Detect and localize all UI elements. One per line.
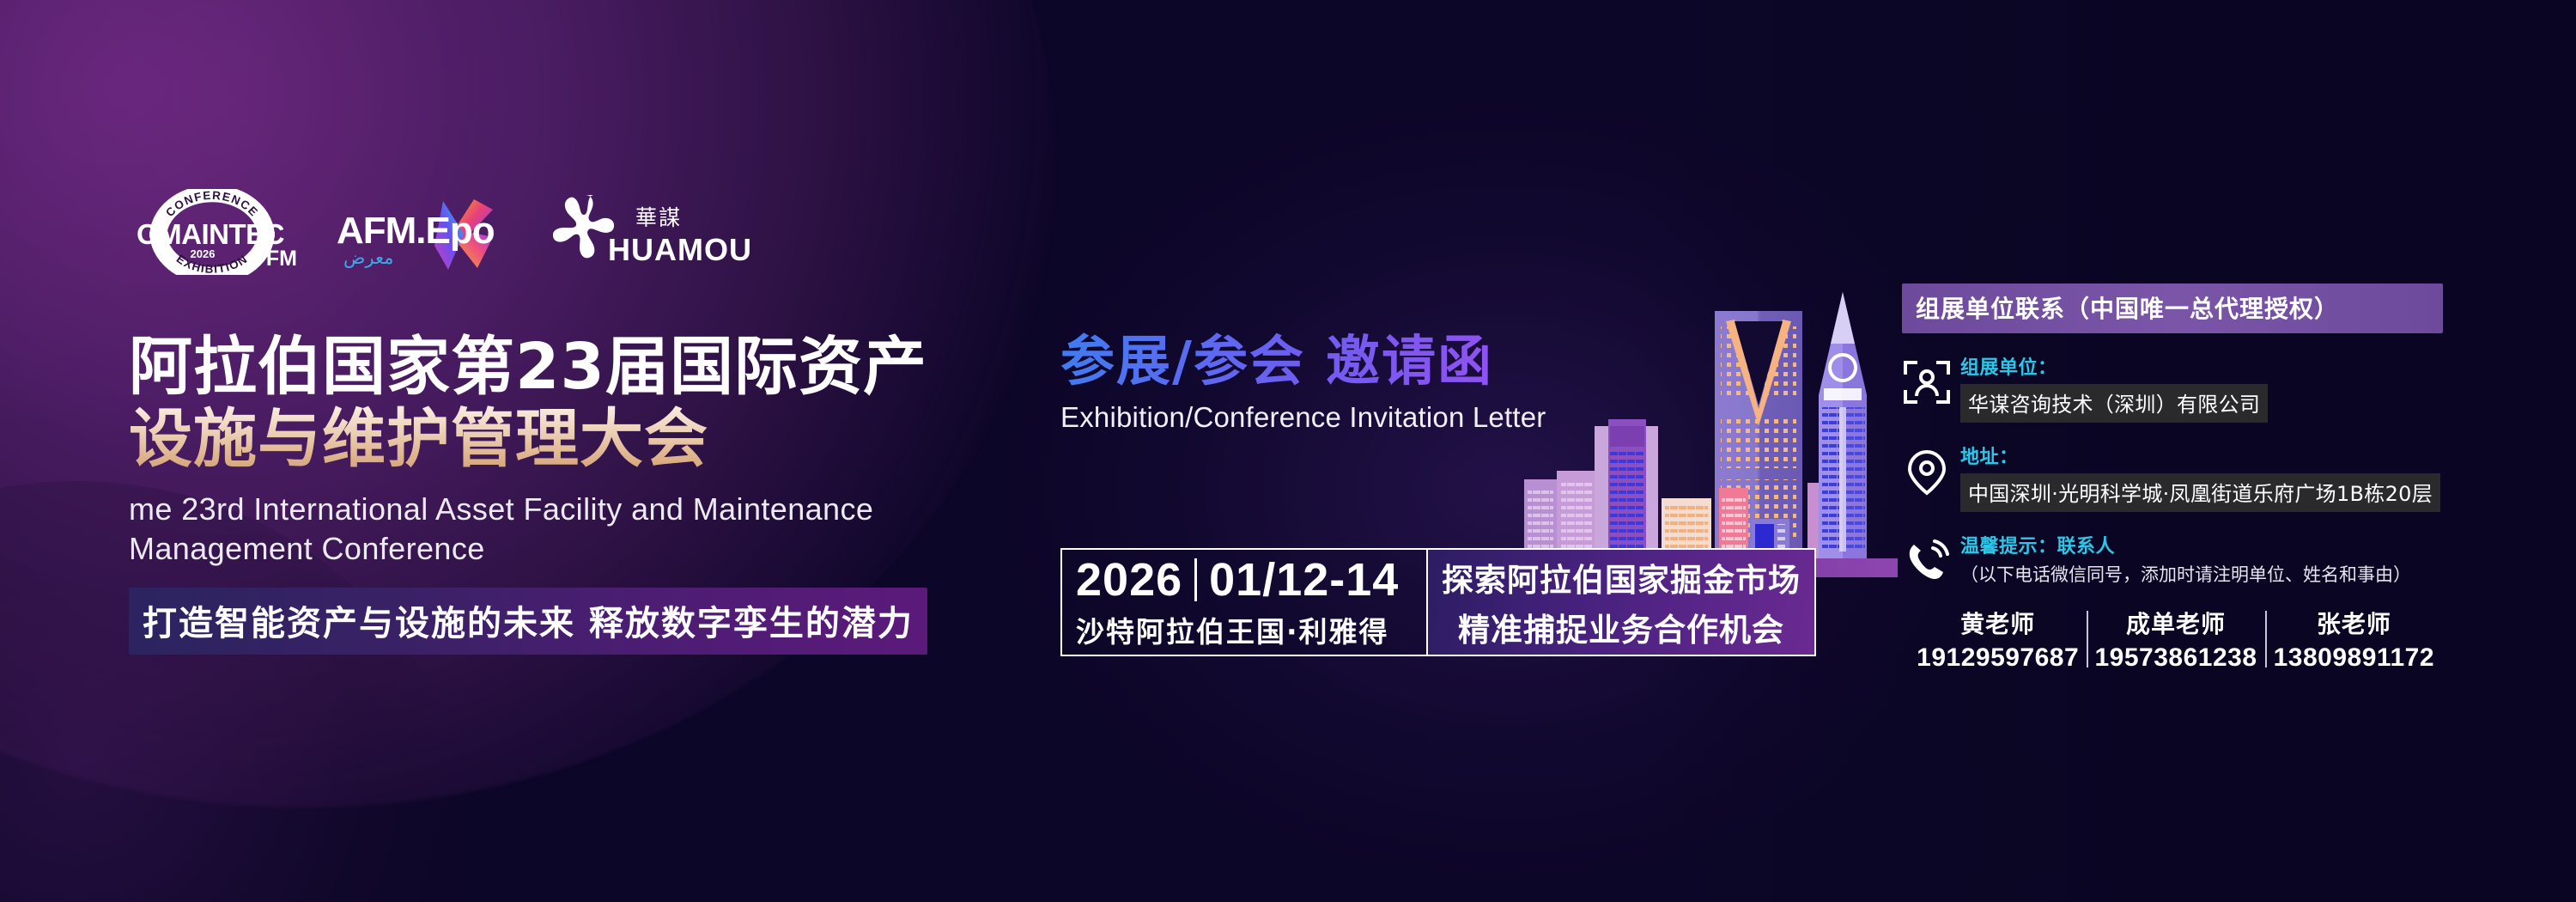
omaintec-logo: CONFERENCE EXHIBITION OMAINTEC 2026 FM [129,187,292,277]
tagline-text: 打造智能资产与设施的未来 释放数字孪生的潜力 [143,604,914,643]
contact-header-text: 组展单位联系（中国唯一总代理授权） [1916,295,2339,323]
afm-expo-text-main: AFM.E [337,210,450,252]
organizer-value: 华谋咨询技术（深圳）有限公司 [1960,384,2268,423]
organizer-label: 组展单位： [1960,352,2443,380]
contact-person: 黄老师 19129597687 [1909,606,2087,673]
contact-panel: 组展单位联系（中国唯一总代理授权） 组展单位： 华谋咨询技术（深圳）有限公司 [1902,283,2443,673]
event-title-chinese: 阿拉伯国家第23届国际资产 设施与维护管理大会 [129,331,1039,476]
tip-body: 温馨提示：联系人 （以下电话微信同号，添加时请注明单位、姓名和事由） [1960,531,2443,587]
promo-panel: 探索阿拉伯国家掘金市场 精准捕捉业务合作机会 [1426,550,1814,655]
contact-person-name: 张老师 [2265,606,2443,640]
address-label: 地址： [1960,442,2443,469]
contact-panel-header: 组展单位联系（中国唯一总代理授权） [1902,283,2443,333]
huamou-chinese: 華謀 [635,201,682,232]
event-title-english: me 23rd International Asset Facility and… [129,490,1039,569]
event-date-box: 2026 01/12-14 沙特阿拉伯王国·利雅得 探索阿拉伯国家掘金市场 精准… [1060,548,1816,656]
contact-person-phone[interactable]: 13809891172 [2265,643,2443,673]
promo-line-2: 精准捕捉业务合作机会 [1458,604,1784,650]
event-location: 沙特阿拉伯王国·利雅得 [1076,609,1426,650]
tip-label: 温馨提示：联系人 [1960,531,2443,558]
huamou-english: HUAMOU [608,232,752,268]
tagline-bar: 打造智能资产与设施的未来 释放数字孪生的潜力 [129,588,927,655]
address-body: 地址： 中国深圳·光明科学城·凤凰街道乐府广场1B栋20层 [1960,442,2443,512]
contact-person-name: 成单老师 [2087,606,2264,640]
contact-person: 张老师 13809891172 [2265,606,2443,673]
address-value: 中国深圳·光明科学城·凤凰街道乐府广场1B栋20层 [1960,473,2440,512]
date-range: 01/12-14 [1209,557,1399,603]
logo-row: CONFERENCE EXHIBITION OMAINTEC 2026 FM [129,185,716,279]
contact-person-phone[interactable]: 19573861238 [2087,643,2264,673]
organizer-body: 组展单位： 华谋咨询技术（深圳）有限公司 [1960,352,2443,423]
afm-expo-wordmark: AFM.Epo [337,210,495,253]
contact-people-list: 黄老师 19129597687 成单老师 19573861238 张老师 138… [1909,606,2443,673]
contact-person-phone[interactable]: 19129597687 [1909,643,2087,673]
afm-expo-logo: AFM.Epo معرض [337,191,508,273]
date-separator [1194,558,1197,601]
phone-icon [1902,536,1952,586]
address-row: 地址： 中国深圳·光明科学城·凤凰街道乐府广场1B栋20层 [1902,442,2443,512]
omaintec-fm-suffix: FM [266,247,297,271]
afm-expo-text-tail: po [450,210,495,252]
contact-person: 成单老师 19573861238 [2087,606,2264,673]
promo-line-1: 探索阿拉伯国家掘金市场 [1442,554,1801,600]
omaintec-year: 2026 [129,247,276,260]
date-main-line: 2026 01/12-14 [1076,557,1426,603]
organizer-row: 组展单位： 华谋咨询技术（深圳）有限公司 [1902,352,2443,423]
contact-person-name: 黄老师 [1909,606,2087,640]
date-left-panel: 2026 01/12-14 沙特阿拉伯王国·利雅得 [1062,550,1426,655]
huamou-mark-icon [553,192,617,266]
left-content-block: 阿拉伯国家第23届国际资产 设施与维护管理大会 me 23rd Internat… [129,331,1039,655]
tip-note: （以下电话微信同号，添加时请注明单位、姓名和事由） [1960,561,2443,587]
event-banner: CONFERENCE EXHIBITION OMAINTEC 2026 FM [0,0,2576,902]
afm-expo-arabic: معرض [343,247,393,268]
location-pin-icon [1902,447,1952,497]
date-year: 2026 [1076,557,1182,603]
person-frame-icon [1902,357,1952,407]
huamou-logo: 華謀 HUAMOU [553,189,716,275]
tip-row: 温馨提示：联系人 （以下电话微信同号，添加时请注明单位、姓名和事由） [1902,531,2443,587]
